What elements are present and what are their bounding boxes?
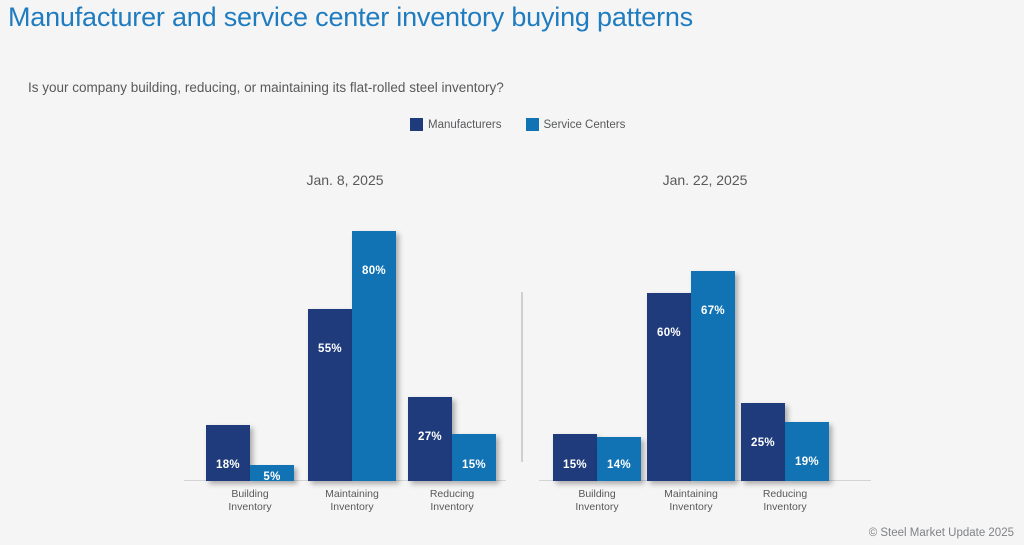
category-label-maintaining-inventory: Maintaining Inventory (298, 488, 406, 513)
plot-area-jan-8: 18% 5% Building Inventory 55% 80% M (180, 215, 510, 481)
category-label-line-2: Inventory (196, 501, 304, 514)
bar-value-manufacturers-building: 18% (206, 459, 250, 471)
chart-title-jan-8: Jan. 8, 2025 (180, 172, 510, 188)
bar-group-maintaining-inventory: 60% 67% Maintaining Inventory (647, 215, 743, 481)
category-label-line-2: Inventory (731, 501, 839, 514)
bar-value-manufacturers-reducing: 25% (741, 437, 785, 449)
bar-service-centers-reducing: 15% (452, 434, 496, 481)
bar-service-centers-building: 14% (597, 437, 641, 481)
chart-panel-jan-22: Jan. 22, 2025 15% 14% Building Inventory… (535, 0, 875, 545)
category-label-building-inventory: Building Inventory (196, 488, 304, 513)
chart-panel-jan-8: Jan. 8, 2025 18% 5% Building Inventory 5… (180, 0, 510, 545)
bar-manufacturers-building: 15% (553, 434, 597, 481)
bar-manufacturers-reducing: 25% (741, 403, 785, 481)
bar-value-service-centers-maintaining: 67% (691, 305, 735, 317)
plot-area-jan-22: 15% 14% Building Inventory 60% 67% (535, 215, 875, 481)
bar-value-manufacturers-maintaining: 60% (647, 327, 691, 339)
category-label-maintaining-inventory: Maintaining Inventory (637, 488, 745, 513)
category-label-building-inventory: Building Inventory (543, 488, 651, 513)
category-label-line-2: Inventory (298, 501, 406, 514)
category-label-reducing-inventory: Reducing Inventory (398, 488, 506, 513)
category-label-line-1: Building (543, 488, 651, 501)
bar-value-service-centers-building: 14% (597, 459, 641, 471)
bar-group-maintaining-inventory: 55% 80% Maintaining Inventory (308, 215, 404, 481)
bar-group-reducing-inventory: 25% 19% Reducing Inventory (741, 215, 837, 481)
category-label-line-1: Maintaining (298, 488, 406, 501)
bar-service-centers-building: 5% (250, 465, 294, 481)
bar-manufacturers-reducing: 27% (408, 397, 452, 481)
bar-group-reducing-inventory: 27% 15% Reducing Inventory (408, 215, 504, 481)
bar-manufacturers-maintaining: 60% (647, 293, 691, 481)
bar-value-manufacturers-building: 15% (553, 459, 597, 471)
bar-value-manufacturers-maintaining: 55% (308, 343, 352, 355)
bar-service-centers-reducing: 19% (785, 422, 829, 481)
category-label-line-1: Reducing (731, 488, 839, 501)
bar-service-centers-maintaining: 67% (691, 271, 735, 481)
bar-value-service-centers-reducing: 19% (785, 456, 829, 468)
bar-service-centers-maintaining: 80% (352, 231, 396, 481)
bar-value-service-centers-maintaining: 80% (352, 265, 396, 277)
category-label-line-1: Maintaining (637, 488, 745, 501)
bar-group-building-inventory: 15% 14% Building Inventory (553, 215, 649, 481)
category-label-line-2: Inventory (543, 501, 651, 514)
category-label-line-1: Building (196, 488, 304, 501)
category-label-reducing-inventory: Reducing Inventory (731, 488, 839, 513)
bar-value-service-centers-reducing: 15% (452, 459, 496, 471)
bar-manufacturers-maintaining: 55% (308, 309, 352, 481)
category-label-line-2: Inventory (637, 501, 745, 514)
bar-group-building-inventory: 18% 5% Building Inventory (206, 215, 302, 481)
bar-value-manufacturers-reducing: 27% (408, 431, 452, 443)
charts-container: Jan. 8, 2025 18% 5% Building Inventory 5… (0, 0, 1024, 545)
chart-title-jan-22: Jan. 22, 2025 (535, 172, 875, 188)
panel-divider (521, 292, 523, 462)
bar-value-service-centers-building: 5% (250, 471, 294, 483)
category-label-line-1: Reducing (398, 488, 506, 501)
bar-manufacturers-building: 18% (206, 425, 250, 481)
footer-copyright: © Steel Market Update 2025 (869, 527, 1014, 539)
category-label-line-2: Inventory (398, 501, 506, 514)
